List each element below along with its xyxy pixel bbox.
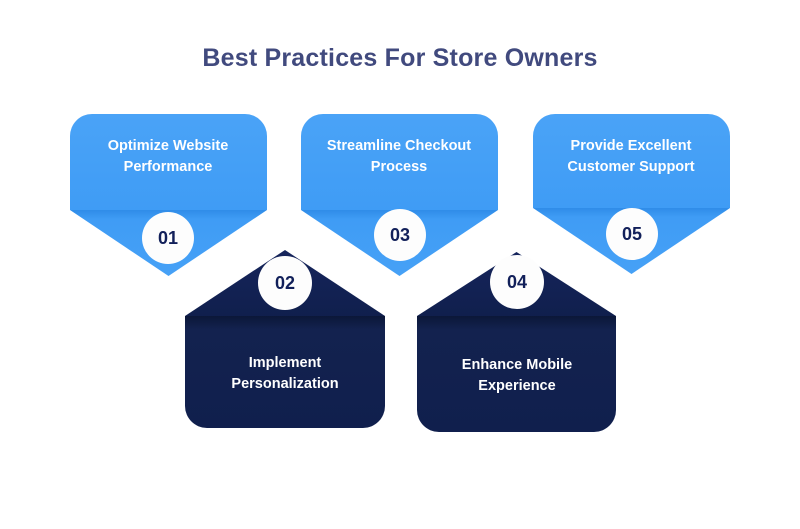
step-label-05: Provide Excellent Customer Support [541, 136, 721, 178]
step-label-02: Implement Personalization [195, 353, 375, 395]
infographic-canvas: Best Practices For Store Owners Optimize… [0, 0, 800, 529]
step-number-01: 01 [158, 228, 178, 249]
step-label-01: Optimize Website Performance [78, 136, 258, 178]
step-number-badge-05: 05 [606, 208, 658, 260]
step-number-03: 03 [390, 225, 410, 246]
page-title: Best Practices For Store Owners [0, 42, 800, 74]
step-number-02: 02 [275, 273, 295, 294]
step-number-05: 05 [622, 224, 642, 245]
step-label-03: Streamline Checkout Process [309, 136, 489, 178]
step-label-04: Enhance Mobile Experience [427, 355, 607, 397]
step-number-04: 04 [507, 272, 527, 293]
